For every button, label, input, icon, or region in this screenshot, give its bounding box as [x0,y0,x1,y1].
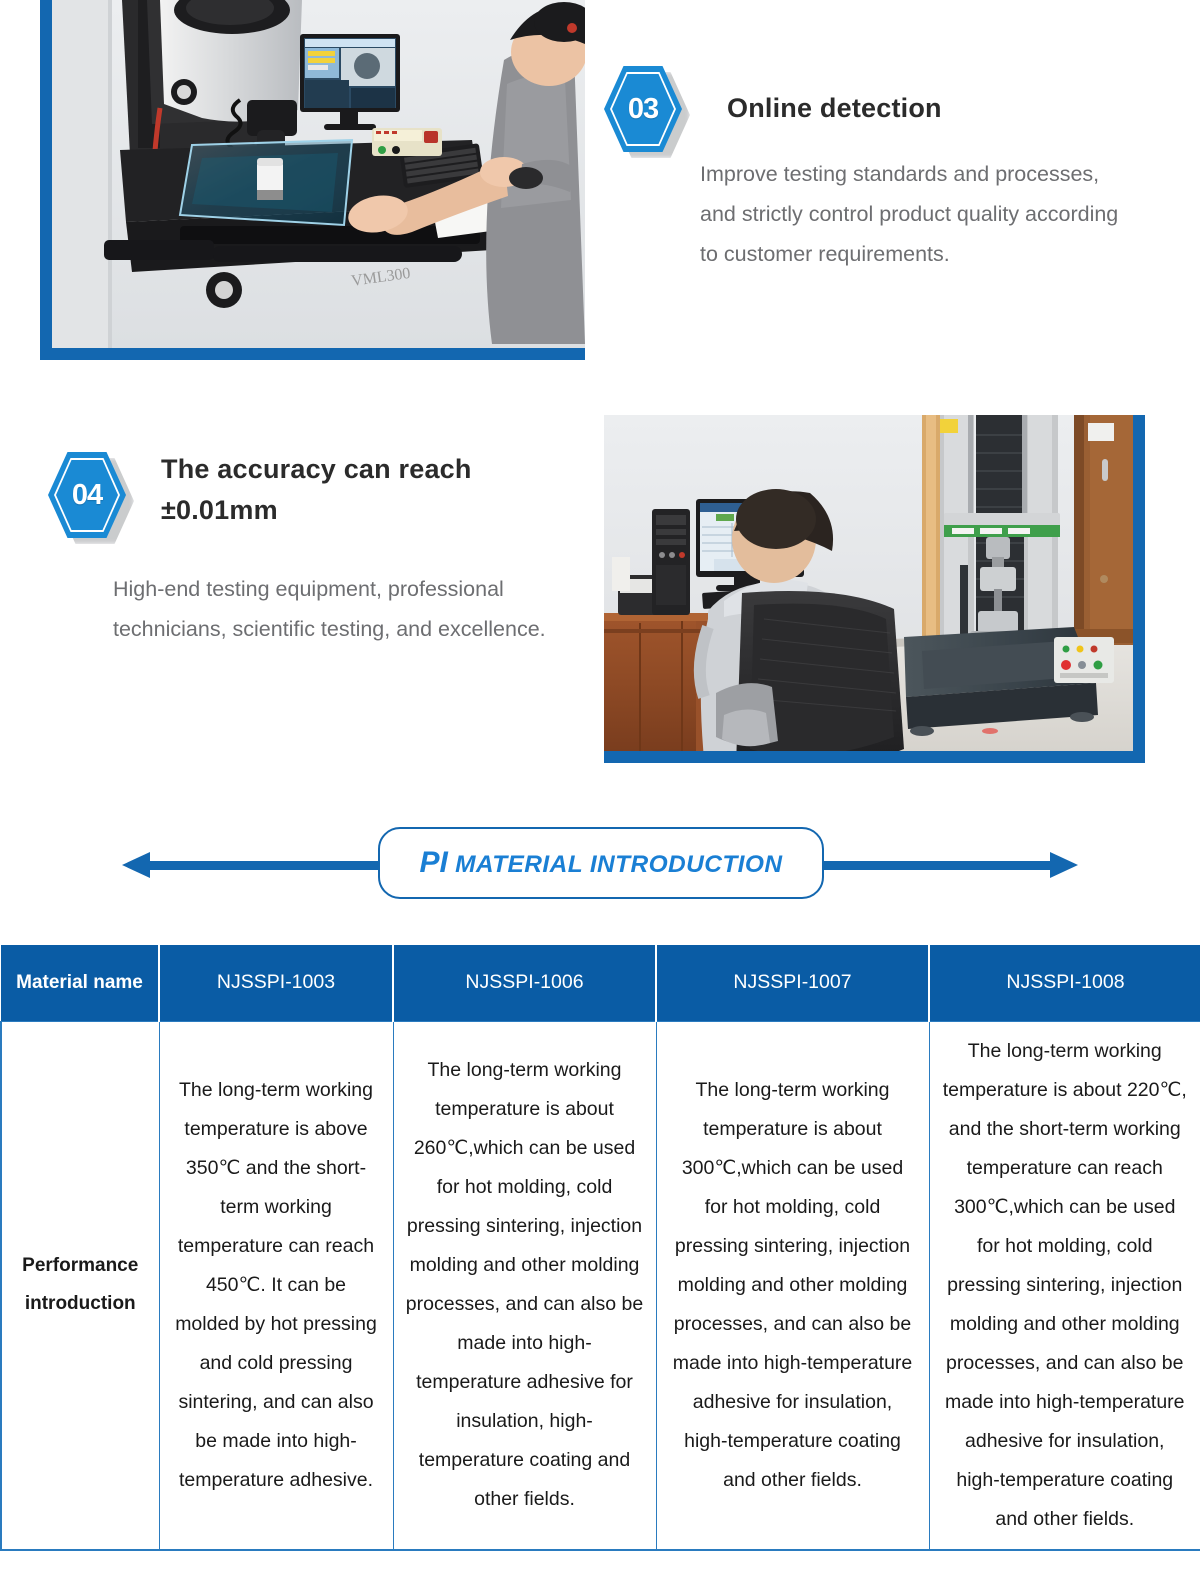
feature-title-accuracy: The accuracy can reach ±0.01mm [161,449,561,531]
section-title-lead: PI [420,846,448,879]
feature-title-online-detection: Online detection [727,88,1167,129]
accent-bar-right [1133,415,1145,763]
section-title-rest: MATERIAL INTRODUCTION [448,851,783,878]
feature-body-accuracy: High-end testing equipment, professional… [113,570,583,650]
accent-bar-bottom [40,348,585,360]
table-row: Performance introduction The long-term w… [1,1021,1200,1550]
table-header-njsspi-1007: NJSSPI-1007 [656,945,929,1021]
photo-frame-tensile-tester [604,415,1145,763]
table-cell-njsspi-1007: The long-term working temperature is abo… [656,1021,929,1550]
table-cell-njsspi-1006: The long-term working temperature is abo… [393,1021,656,1550]
table-header-material-name: Material name [1,945,159,1021]
badge-number: 03 [604,66,682,152]
table-cell-njsspi-1003: The long-term working temperature is abo… [159,1021,393,1550]
table-row-label-performance-introduction: Performance introduction [1,1021,159,1550]
badge-number: 04 [48,452,126,538]
photo-measuring-machine: VML300 [52,0,585,348]
step-badge-03: 03 [604,66,682,152]
table-header-njsspi-1003: NJSSPI-1003 [159,945,393,1021]
accent-bar-bottom [604,751,1145,763]
table-header-njsspi-1006: NJSSPI-1006 [393,945,656,1021]
step-badge-04: 04 [48,452,126,538]
accent-bar-left [40,0,52,360]
feature-body-online-detection: Improve testing standards and processes,… [700,155,1130,274]
table-header-njsspi-1008: NJSSPI-1008 [929,945,1200,1021]
section-title: PI MATERIAL INTRODUCTION [420,846,783,880]
table-cell-njsspi-1008: The long-term working temperature is abo… [929,1021,1200,1550]
photo-frame-measuring-machine: VML300 [40,0,585,360]
table-header-row: Material name NJSSPI-1003 NJSSPI-1006 NJ… [1,945,1200,1021]
photo-tensile-tester [604,415,1133,751]
section-title-pill: PI MATERIAL INTRODUCTION [378,827,824,899]
pi-material-table: Material name NJSSPI-1003 NJSSPI-1006 NJ… [0,945,1200,1551]
